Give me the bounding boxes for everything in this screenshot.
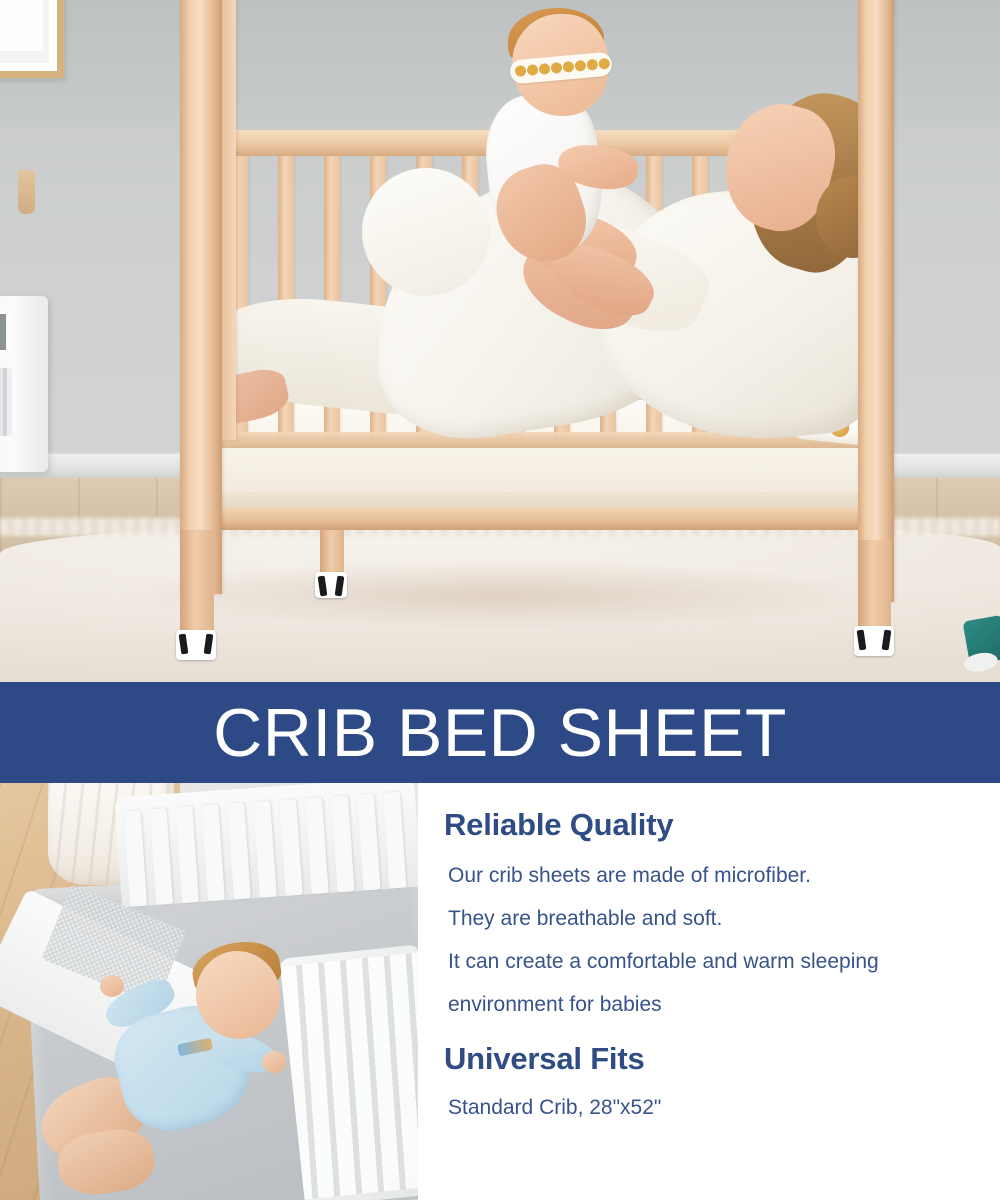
- title-banner: CRIB BED SHEET: [0, 682, 1000, 783]
- feature-text-panel: Reliable Quality Our crib sheets are mad…: [418, 783, 1000, 1200]
- photo-baby-hand-left: [100, 975, 124, 997]
- photo-crib-slat: [123, 810, 147, 907]
- feature-size-line: Standard Crib, 28"x52": [448, 1097, 976, 1118]
- photo-crib-slat: [253, 801, 277, 898]
- framed-picture: [0, 0, 64, 78]
- crib-post-left-inner: [222, 0, 236, 440]
- crib-leg-middle: [320, 530, 344, 578]
- mother-knee: [362, 168, 490, 296]
- photo-crib-slat: [227, 803, 251, 900]
- cabinet-shelf: [0, 310, 10, 354]
- crib-post-left: [180, 0, 222, 594]
- headband-dot: [539, 63, 551, 75]
- feature-heading-universal-fits: Universal Fits: [444, 1041, 976, 1077]
- headband-dot: [515, 65, 527, 77]
- crib-far-rail: [115, 783, 418, 907]
- hero-lifestyle-photo: [0, 0, 1000, 682]
- crib-caster-front: [176, 630, 216, 660]
- feature-line-1: Our crib sheets are made of microfiber.: [448, 865, 976, 886]
- photo-crib-slat: [331, 795, 355, 892]
- feature-line-3: It can create a comfortable and warm sle…: [448, 951, 976, 972]
- crib-caster-right: [854, 626, 894, 656]
- banner-title: CRIB BED SHEET: [213, 699, 787, 767]
- headband-dot: [551, 62, 563, 74]
- crib-caster-middle: [315, 572, 347, 598]
- product-infographic: CRIB BED SHEET Reliable Quality Our crib: [0, 0, 1000, 1200]
- feature-line-2: They are breathable and soft.: [448, 908, 976, 929]
- feature-heading-reliable-quality: Reliable Quality: [444, 807, 976, 843]
- picture-art: [0, 0, 43, 51]
- headband-dot: [598, 58, 610, 70]
- crib-post-right: [858, 0, 894, 602]
- crib-bottom-rail: [200, 508, 872, 530]
- photo-crib-slat: [279, 799, 303, 896]
- product-photo: [0, 783, 418, 1200]
- feature-line-4: environment for babies: [448, 994, 976, 1015]
- rug-shadow: [120, 560, 880, 630]
- crib-right-rail: [279, 944, 418, 1200]
- photo-crib-slat: [175, 806, 199, 903]
- photo-baby-hand-right: [262, 1051, 286, 1073]
- photo-crib-slat: [149, 808, 173, 905]
- photo-crib-slat: [357, 793, 381, 890]
- headband-dot: [574, 60, 586, 72]
- white-cabinet: [0, 296, 48, 472]
- teal-toy: [962, 615, 1000, 665]
- photo-crib-slat: [383, 792, 407, 889]
- cabinet-leg-right: [18, 170, 35, 214]
- photo-crib-slat: [201, 804, 225, 901]
- headband-dot: [527, 64, 539, 76]
- photo-crib-slat: [305, 797, 329, 894]
- headband-dot: [586, 59, 598, 71]
- cabinet-books: [0, 368, 12, 436]
- headband-dot: [562, 61, 574, 73]
- crib-leg-right: [858, 540, 891, 632]
- bottom-section: Reliable Quality Our crib sheets are mad…: [0, 783, 1000, 1200]
- crib-leg-front: [180, 530, 214, 636]
